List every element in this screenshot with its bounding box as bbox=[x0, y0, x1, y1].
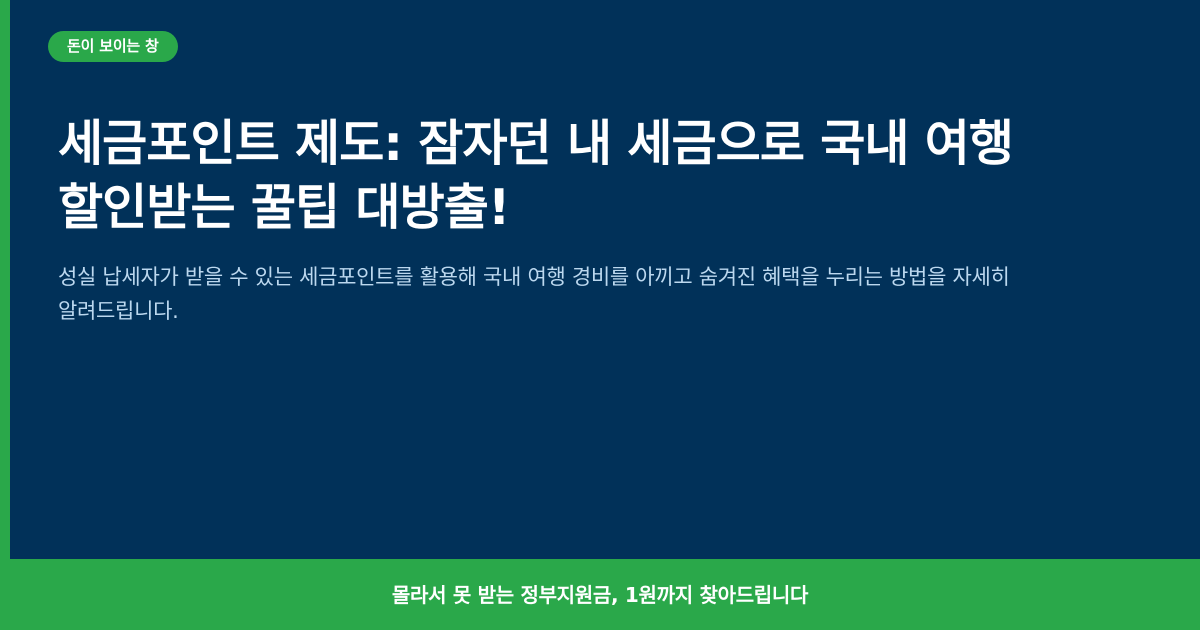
share-card: 돈이 보이는 창 세금포인트 제도: 잠자던 내 세금으로 국내 여행 할인받는… bbox=[0, 0, 1200, 630]
page-subtitle: 성실 납세자가 받을 수 있는 세금포인트를 활용해 국내 여행 경비를 아끼고… bbox=[58, 261, 1136, 327]
page-title: 세금포인트 제도: 잠자던 내 세금으로 국내 여행 할인받는 꿀팁 대방출! bbox=[58, 112, 1138, 239]
footer-bar: 몰라서 못 받는 정부지원금, 1원까지 찾아드립니다 bbox=[0, 559, 1200, 630]
footer-tagline: 몰라서 못 받는 정부지원금, 1원까지 찾아드립니다 bbox=[392, 585, 808, 605]
brand-badge-label: 돈이 보이는 창 bbox=[67, 39, 159, 54]
left-accent-stripe bbox=[0, 0, 10, 630]
content-block: 세금포인트 제도: 잠자던 내 세금으로 국내 여행 할인받는 꿀팁 대방출! … bbox=[58, 112, 1138, 328]
brand-badge: 돈이 보이는 창 bbox=[48, 31, 178, 62]
